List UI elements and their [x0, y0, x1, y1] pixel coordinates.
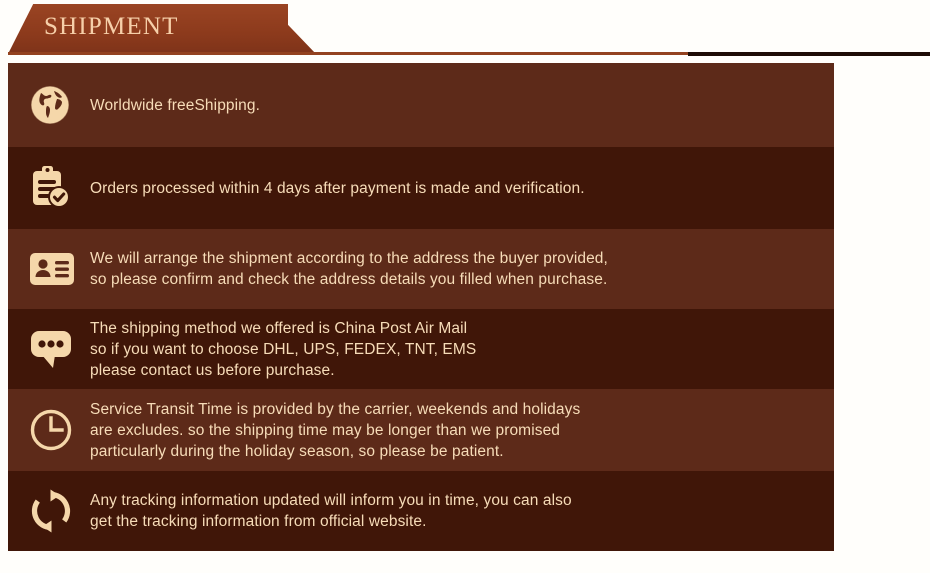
clock-icon: [28, 407, 74, 453]
row-icon-slot: [28, 488, 90, 534]
id-card-icon: [28, 250, 76, 288]
header-rule-left: [8, 52, 690, 55]
row-icon-slot: [28, 250, 90, 288]
clipboard-check-icon: [28, 164, 74, 212]
info-row-text: The shipping method we offered is China …: [90, 318, 476, 381]
speech-bubble-icon: [28, 327, 76, 371]
info-row-transit-time: Service Transit Time is provided by the …: [8, 389, 834, 471]
info-row-order-processing: Orders processed within 4 days after pay…: [8, 147, 834, 229]
header-banner-area: SHIPMENT: [0, 0, 930, 60]
row-icon-slot: [28, 407, 90, 453]
globe-icon: [28, 83, 72, 127]
header-rule-right: [688, 52, 930, 56]
row-icon-slot: [28, 164, 90, 212]
info-row-text: Orders processed within 4 days after pay…: [90, 178, 585, 199]
info-row-tracking-info: Any tracking information updated will in…: [8, 471, 834, 551]
row-icon-slot: [28, 83, 90, 127]
info-row-text: Worldwide freeShipping.: [90, 95, 260, 116]
info-row-text: We will arrange the shipment according t…: [90, 248, 608, 290]
info-row-text: Any tracking information updated will in…: [90, 490, 572, 532]
info-row-text: Service Transit Time is provided by the …: [90, 399, 580, 462]
info-row-address-confirm: We will arrange the shipment according t…: [8, 229, 834, 309]
info-row-shipping-method: The shipping method we offered is China …: [8, 309, 834, 389]
row-icon-slot: [28, 327, 90, 371]
info-row-worldwide-shipping: Worldwide freeShipping.: [8, 63, 834, 147]
page-title: SHIPMENT: [44, 13, 179, 41]
shipment-info-panel: Worldwide freeShipping. Orders processed…: [8, 63, 834, 551]
refresh-icon: [28, 488, 74, 534]
